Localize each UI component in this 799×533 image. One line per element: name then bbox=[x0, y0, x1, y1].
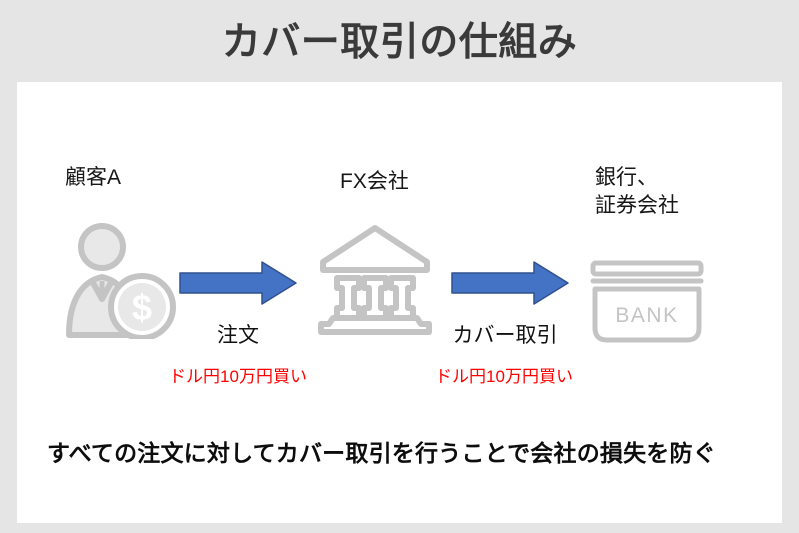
summary-caption: すべての注文に対してカバー取引を行うことで会社の損失を防ぐ bbox=[47, 434, 716, 468]
institution-icon bbox=[315, 220, 435, 338]
person-with-coin-icon: $ bbox=[47, 219, 192, 339]
node-label-bank: 銀行、 証券会社 bbox=[595, 164, 679, 219]
title-bar: カバー取引の仕組み bbox=[0, 0, 799, 82]
svg-text:$: $ bbox=[132, 287, 152, 328]
bank-card-icon: BANK bbox=[587, 260, 707, 345]
flow-label-cover: カバー取引 bbox=[415, 325, 595, 346]
bank-card-text: BANK bbox=[615, 304, 678, 327]
flow-sublabel-cover: ドル円10万円買い bbox=[389, 368, 619, 385]
arrow-cover bbox=[450, 260, 570, 306]
flow-label-order: 注文 bbox=[148, 325, 328, 346]
diagram-card: 顧客A FX会社 銀行、 証券会社 $ bbox=[17, 82, 782, 523]
flow-sublabel-order: ドル円10万円買い bbox=[123, 368, 353, 385]
arrow-order bbox=[178, 260, 298, 306]
node-label-customer: 顧客A bbox=[65, 164, 121, 192]
node-label-fx-company: FX会社 bbox=[340, 168, 409, 196]
page-title: カバー取引の仕組み bbox=[222, 23, 578, 62]
